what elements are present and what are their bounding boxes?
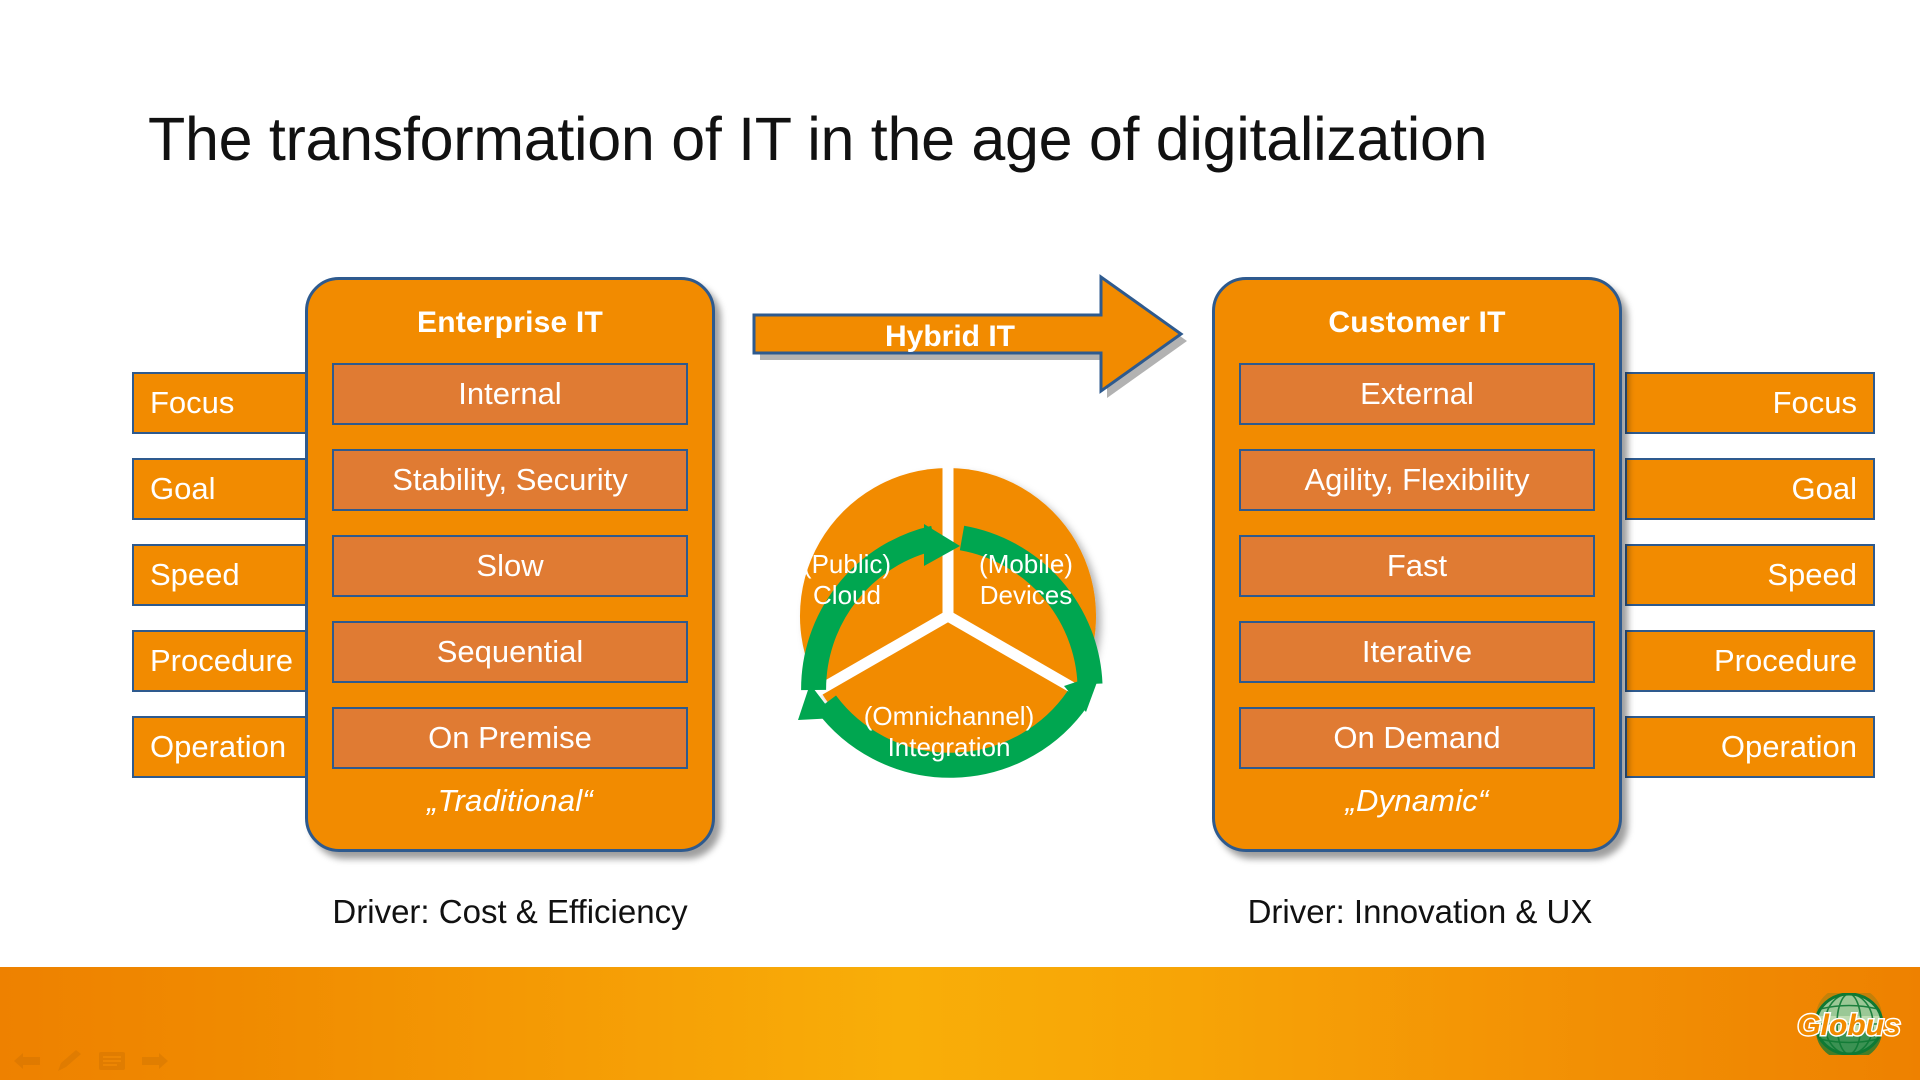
right-label-column: Focus Goal Speed Procedure Operation <box>1625 372 1875 778</box>
row-text: Internal <box>458 376 561 412</box>
footer-bar <box>0 967 1920 1080</box>
globus-logo: Globus <box>1793 993 1905 1055</box>
row-external: External <box>1239 363 1595 425</box>
row-sequential: Sequential <box>332 621 688 683</box>
label-text: Procedure <box>1714 643 1857 679</box>
sector-label-omnichannel-integration: (Omnichannel) Integration <box>844 701 1054 762</box>
right-label-operation: Operation <box>1625 716 1875 778</box>
pencil-icon[interactable] <box>56 1049 82 1073</box>
notes-icon[interactable] <box>98 1050 126 1072</box>
label-text: Focus <box>1773 385 1857 421</box>
sector-label-line1: (Omnichannel) <box>844 701 1054 732</box>
sector-label-line1: (Mobile) <box>946 549 1106 580</box>
label-text: Speed <box>150 557 240 593</box>
sector-label-line2: Integration <box>844 732 1054 763</box>
row-text: On Premise <box>428 720 592 756</box>
globus-logo-text: Globus <box>1797 1009 1900 1042</box>
hybrid-it-cycle-diagram: (Public) Cloud (Mobile) Devices (Omnicha… <box>738 406 1158 826</box>
sector-label-line1: (Public) <box>772 549 922 580</box>
row-on-demand: On Demand <box>1239 707 1595 769</box>
hybrid-it-label: Hybrid IT <box>885 320 1015 354</box>
row-on-premise: On Premise <box>332 707 688 769</box>
right-label-goal: Goal <box>1625 458 1875 520</box>
sector-label-public-cloud: (Public) Cloud <box>772 549 922 610</box>
sector-label-mobile-devices: (Mobile) Devices <box>946 549 1106 610</box>
label-text: Speed <box>1767 557 1857 593</box>
panel-footer-dynamic: „Dynamic“ <box>1345 783 1488 819</box>
row-text: Stability, Security <box>392 462 627 498</box>
label-text: Goal <box>1792 471 1857 507</box>
label-text: Operation <box>150 729 286 765</box>
label-text: Focus <box>150 385 234 421</box>
panel-footer-traditional: „Traditional“ <box>427 783 593 819</box>
panel-rows: Internal Stability, Security Slow Sequen… <box>332 363 688 769</box>
slide-canvas: The transformation of IT in the age of d… <box>0 0 1920 1080</box>
globus-logo-graphic: Globus <box>1793 993 1905 1055</box>
right-label-speed: Speed <box>1625 544 1875 606</box>
hybrid-it-label-wrap: Hybrid IT <box>750 272 1150 402</box>
label-text: Goal <box>150 471 215 507</box>
label-text: Operation <box>1721 729 1857 765</box>
row-text: Slow <box>476 548 543 584</box>
driver-left: Driver: Cost & Efficiency <box>280 893 740 931</box>
label-text: Procedure <box>150 643 293 679</box>
row-internal: Internal <box>332 363 688 425</box>
panel-rows: External Agility, Flexibility Fast Itera… <box>1239 363 1595 769</box>
arrow-left-icon[interactable] <box>14 1050 40 1072</box>
arrow-right-icon[interactable] <box>142 1050 168 1072</box>
right-label-procedure: Procedure <box>1625 630 1875 692</box>
driver-right: Driver: Innovation & UX <box>1190 893 1650 931</box>
enterprise-it-panel: Enterprise IT Internal Stability, Securi… <box>305 277 715 852</box>
row-agility-flexibility: Agility, Flexibility <box>1239 449 1595 511</box>
right-label-focus: Focus <box>1625 372 1875 434</box>
cycle-graphic <box>738 406 1158 826</box>
row-stability-security: Stability, Security <box>332 449 688 511</box>
row-iterative: Iterative <box>1239 621 1595 683</box>
page-title: The transformation of IT in the age of d… <box>148 104 1748 174</box>
panel-title: Enterprise IT <box>417 306 603 340</box>
row-text: Sequential <box>437 634 584 670</box>
customer-it-panel: Customer IT External Agility, Flexibilit… <box>1212 277 1622 852</box>
footer-icon-group <box>14 1046 174 1076</box>
row-text: Agility, Flexibility <box>1304 462 1529 498</box>
row-fast: Fast <box>1239 535 1595 597</box>
row-slow: Slow <box>332 535 688 597</box>
row-text: On Demand <box>1333 720 1500 756</box>
row-text: External <box>1360 376 1474 412</box>
row-text: Iterative <box>1362 634 1472 670</box>
sector-label-line2: Cloud <box>772 580 922 611</box>
hybrid-it-arrow: Hybrid IT <box>750 272 1190 402</box>
sector-label-line2: Devices <box>946 580 1106 611</box>
panel-title: Customer IT <box>1328 306 1505 340</box>
row-text: Fast <box>1387 548 1447 584</box>
